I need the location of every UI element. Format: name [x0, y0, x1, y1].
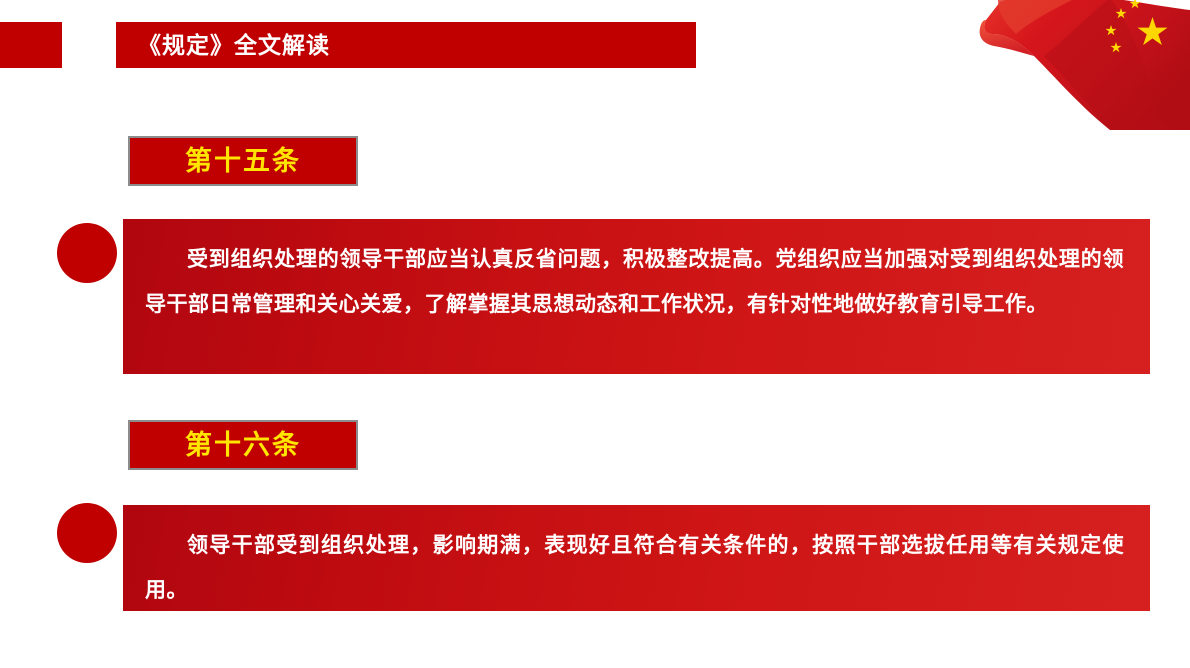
article-label-16-text: 第十六条 [130, 422, 356, 468]
content-box-15: 受到组织处理的领导干部应当认真反省问题，积极整改提高。党组织应当加强对受到组织处… [123, 219, 1150, 374]
article-label-16: 第十六条 [128, 420, 358, 470]
page-title: 《规定》全文解读 [138, 22, 330, 68]
article-label-15-text: 第十五条 [130, 138, 356, 184]
slide-root: 《规定》全文解读 [0, 0, 1190, 668]
article-15-body: 受到组织处理的领导干部应当认真反省问题，积极整改提高。党组织应当加强对受到组织处… [145, 237, 1124, 327]
article-label-15: 第十五条 [128, 136, 358, 186]
content-box-16: 领导干部受到组织处理，影响期满，表现好且符合有关条件的，按照干部选拔任用等有关规… [123, 505, 1150, 611]
header-bar: 《规定》全文解读 [116, 22, 696, 68]
china-flag-icon [960, 0, 1190, 130]
header-accent-block [0, 22, 62, 68]
bullet-dot-15 [57, 223, 117, 283]
flag-stars [1106, 0, 1168, 52]
bullet-dot-16 [57, 503, 117, 563]
article-16-body: 领导干部受到组织处理，影响期满，表现好且符合有关条件的，按照干部选拔任用等有关规… [145, 523, 1124, 613]
